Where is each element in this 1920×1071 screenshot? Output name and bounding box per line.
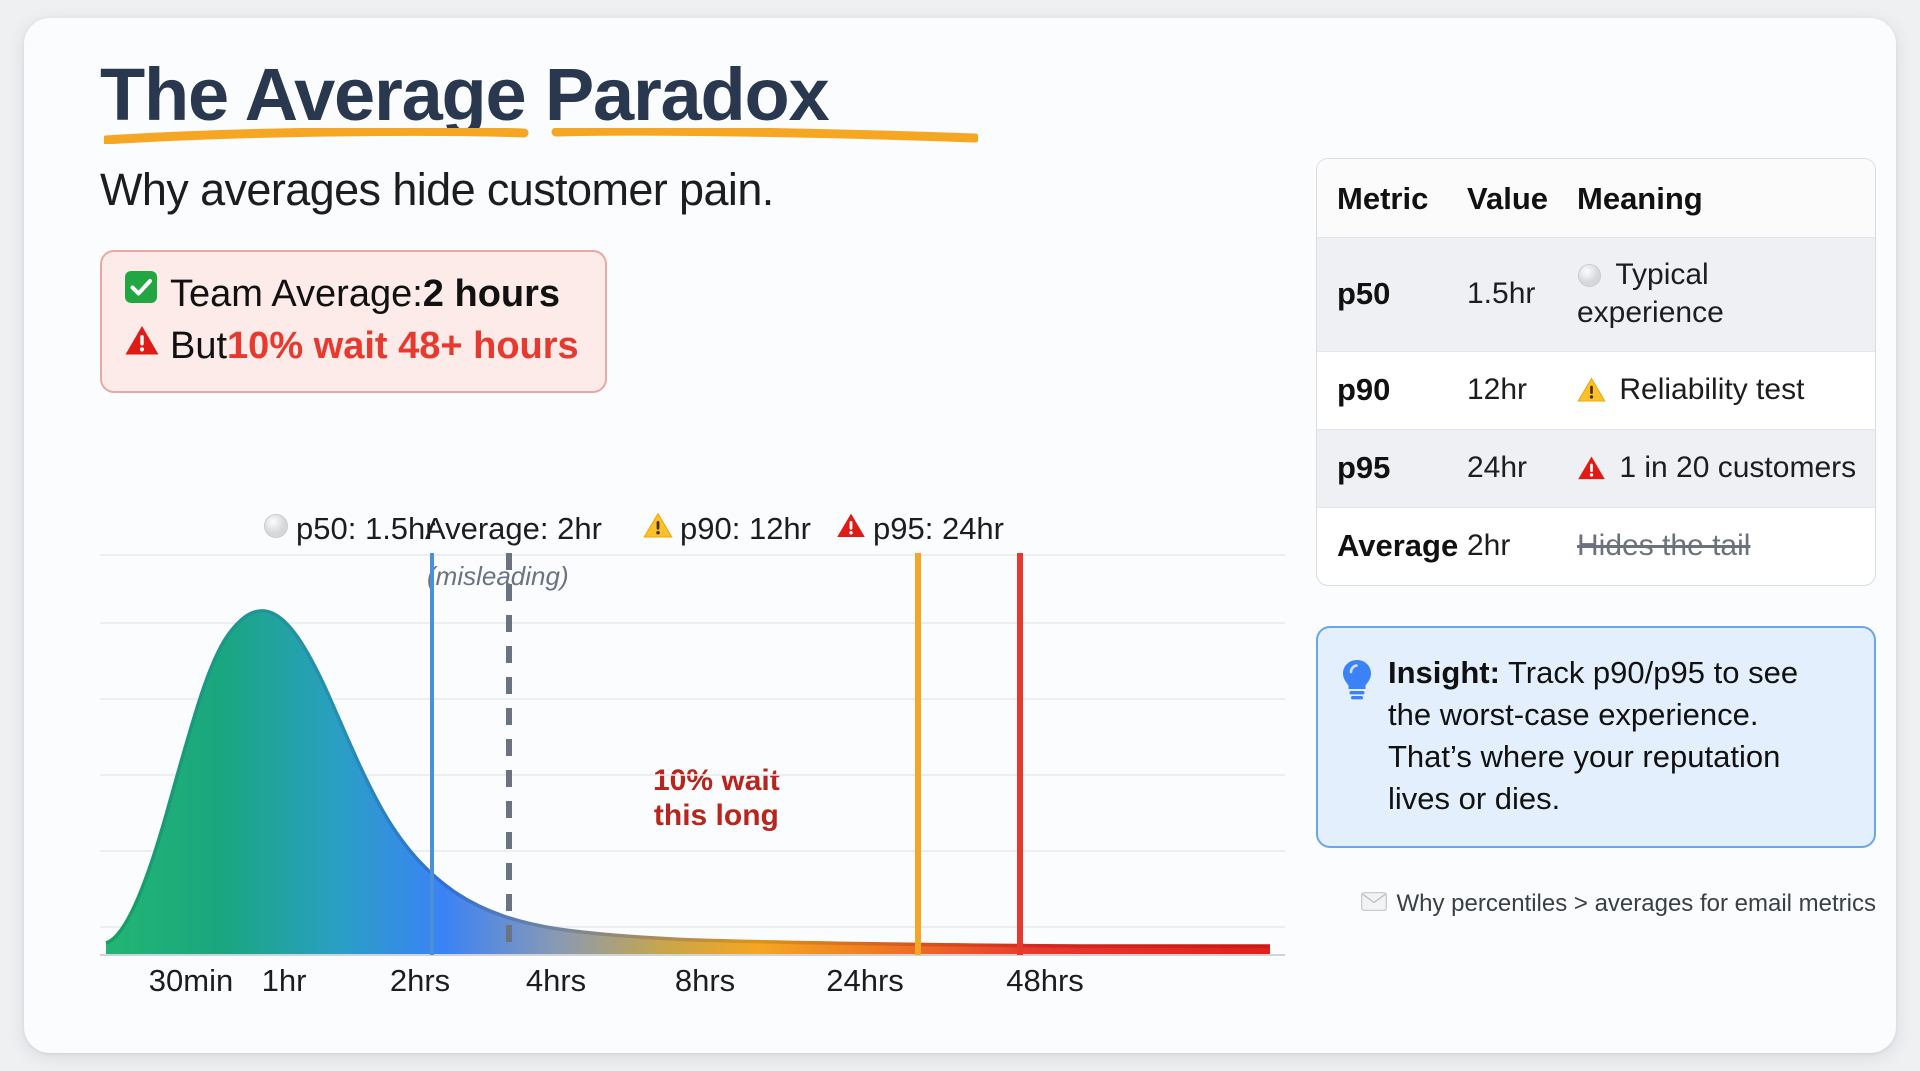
col-header-meaning: Meaning — [1577, 181, 1875, 217]
row-metric: Average — [1317, 528, 1467, 564]
x-tick-3: 4hrs — [526, 963, 586, 999]
marker-label-p90-text: p90: 12hr — [680, 511, 811, 547]
row-meaning: Reliability test — [1577, 371, 1875, 409]
x-tick-4: 8hrs — [675, 963, 735, 999]
row-meaning: Typical experience — [1577, 256, 1875, 333]
x-tick-6: 48hrs — [1006, 963, 1084, 999]
footer-text: Why percentiles > averages for email met… — [1396, 890, 1876, 918]
alert-line-1-prefix: Team Average: — [170, 268, 423, 320]
chart-plot — [100, 551, 1285, 966]
warning-triangle-red-icon — [1577, 451, 1614, 484]
table-row: p95 24hr 1 in 20 customers — [1317, 429, 1875, 507]
insight-box: Insight: Track p90/p95 to see the worst-… — [1316, 626, 1876, 849]
title-block: The Average Paradox — [100, 56, 828, 134]
white-circle-icon — [263, 513, 289, 546]
warning-triangle-icon — [124, 323, 170, 370]
table-row: p90 12hr Reliability test — [1317, 351, 1875, 429]
col-header-value: Value — [1467, 181, 1577, 217]
row-metric: p50 — [1317, 276, 1467, 312]
warning-triangle-yellow-icon — [643, 512, 673, 546]
distribution-chart: p50: 1.5hr Average: 2hr p90: 12hr — [100, 511, 1285, 1011]
alert-line-1-value: 2 hours — [423, 268, 560, 320]
alert-line-2-prefix: But — [170, 320, 227, 372]
row-meaning: 1 in 20 customers — [1577, 449, 1875, 487]
warning-triangle-red-icon — [836, 512, 866, 546]
warning-triangle-yellow-icon — [1577, 373, 1614, 406]
row-meaning-text: 1 in 20 customers — [1619, 451, 1856, 484]
row-meaning-text: Hides the tail — [1577, 529, 1750, 562]
table-row: Average 2hr Hides the tail — [1317, 507, 1875, 585]
marker-label-p95: p95: 24hr — [836, 511, 1004, 547]
insight-label: Insight: — [1388, 655, 1500, 690]
x-tick-1: 1hr — [262, 963, 307, 999]
row-value: 12hr — [1467, 373, 1577, 407]
page-subtitle: Why averages hide customer pain. — [100, 164, 1285, 216]
right-column: Metric Value Meaning p50 1.5hr Typi — [1316, 158, 1876, 918]
white-circle-icon — [1577, 258, 1610, 291]
row-metric: p90 — [1317, 372, 1467, 408]
table-row: p50 1.5hr Typical experience — [1317, 237, 1875, 351]
percentile-table: Metric Value Meaning p50 1.5hr Typi — [1316, 158, 1876, 586]
marker-label-average-text: Average: 2hr — [425, 511, 602, 547]
row-meaning: Hides the tail — [1577, 527, 1875, 565]
x-tick-2: 2hrs — [390, 963, 450, 999]
table-header-row: Metric Value Meaning — [1317, 159, 1875, 237]
row-metric: p95 — [1317, 450, 1467, 486]
envelope-icon — [1361, 890, 1387, 918]
footer-note: Why percentiles > averages for email met… — [1316, 890, 1876, 918]
page-title: The Average Paradox — [100, 56, 828, 134]
alert-line-2: But 10% wait 48+ hours — [124, 320, 579, 372]
x-tick-0: 30min — [149, 963, 233, 999]
row-value: 1.5hr — [1467, 277, 1577, 311]
marker-label-p50: p50: 1.5hr — [263, 511, 436, 547]
lightbulb-icon — [1340, 658, 1374, 707]
check-mark-icon — [124, 270, 170, 317]
x-tick-5: 24hrs — [826, 963, 904, 999]
infographic-card: The Average Paradox Why averages hide cu… — [24, 18, 1896, 1053]
marker-label-average: Average: 2hr — [425, 511, 602, 547]
insight-text: Insight: Track p90/p95 to see the worst-… — [1388, 652, 1848, 821]
left-column: The Average Paradox Why averages hide cu… — [100, 56, 1285, 1016]
row-meaning-text: Reliability test — [1619, 373, 1804, 406]
marker-label-p90: p90: 12hr — [643, 511, 811, 547]
distribution-curve-area — [106, 611, 1270, 955]
row-value: 2hr — [1467, 529, 1577, 563]
chart-x-axis: 30min 1hr 2hrs 4hrs 8hrs 24hrs 48hrs — [100, 963, 1285, 1009]
alert-box: Team Average: 2 hours But 10% wait 48+ h… — [100, 250, 607, 393]
col-header-metric: Metric — [1317, 181, 1467, 217]
row-value: 24hr — [1467, 451, 1577, 485]
marker-label-p50-text: p50: 1.5hr — [296, 511, 436, 547]
alert-line-2-value: 10% wait 48+ hours — [227, 320, 579, 372]
marker-label-p95-text: p95: 24hr — [873, 511, 1004, 547]
title-underline-icon — [104, 128, 978, 144]
alert-line-1: Team Average: 2 hours — [124, 268, 579, 320]
